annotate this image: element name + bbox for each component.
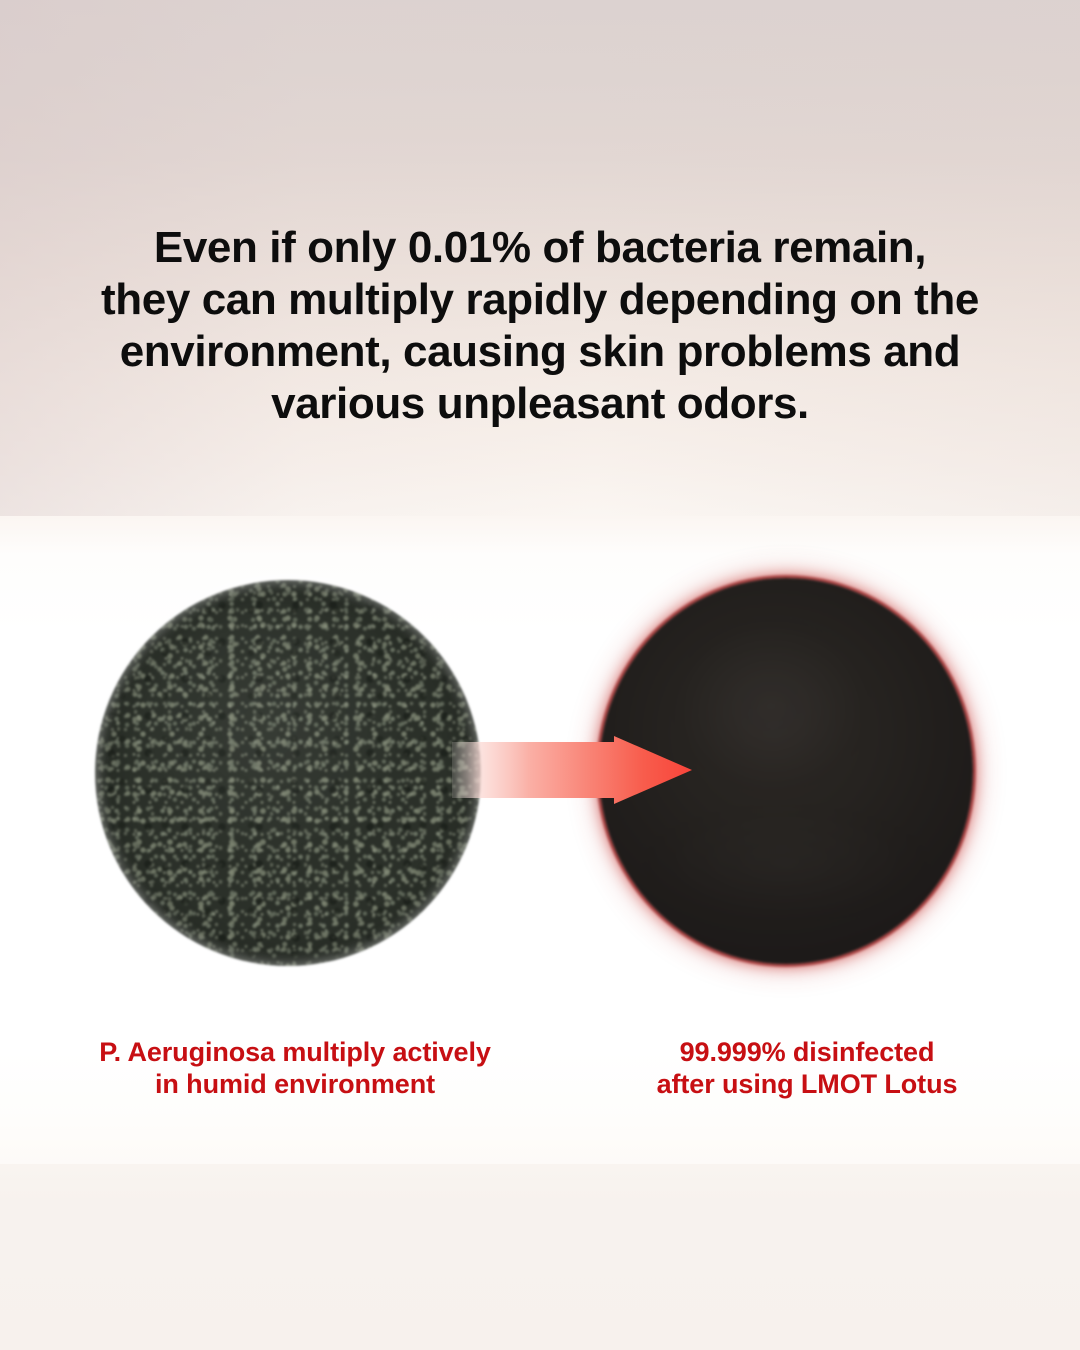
infographic-poster: Even if only 0.01% of bacteria remain, t…: [0, 0, 1080, 1350]
headline-line-1: Even if only 0.01% of bacteria remain,: [50, 222, 1030, 274]
bacteria-colonies-dish: [95, 580, 481, 966]
headline-line-4: various unpleasant odors.: [50, 378, 1030, 430]
left-caption-line-1: P. Aeruginosa multiply actively: [40, 1036, 550, 1068]
headline-line-3: environment, causing skin problems and: [50, 326, 1030, 378]
right-caption-line-2: after using LMOT Lotus: [572, 1068, 1042, 1100]
right-caption-line-1: 99.999% disinfected: [572, 1036, 1042, 1068]
headline-text: Even if only 0.01% of bacteria remain, t…: [50, 222, 1030, 430]
left-dish-vignette: [95, 580, 481, 966]
right-dish-caption: 99.999% disinfected after using LMOT Lot…: [572, 1036, 1042, 1100]
right-arrow-icon: [452, 736, 692, 804]
headline-line-2: they can multiply rapidly depending on t…: [50, 274, 1030, 326]
bottom-background-band: [0, 1164, 1080, 1350]
left-caption-line-2: in humid environment: [40, 1068, 550, 1100]
left-dish-caption: P. Aeruginosa multiply actively in humid…: [40, 1036, 550, 1100]
